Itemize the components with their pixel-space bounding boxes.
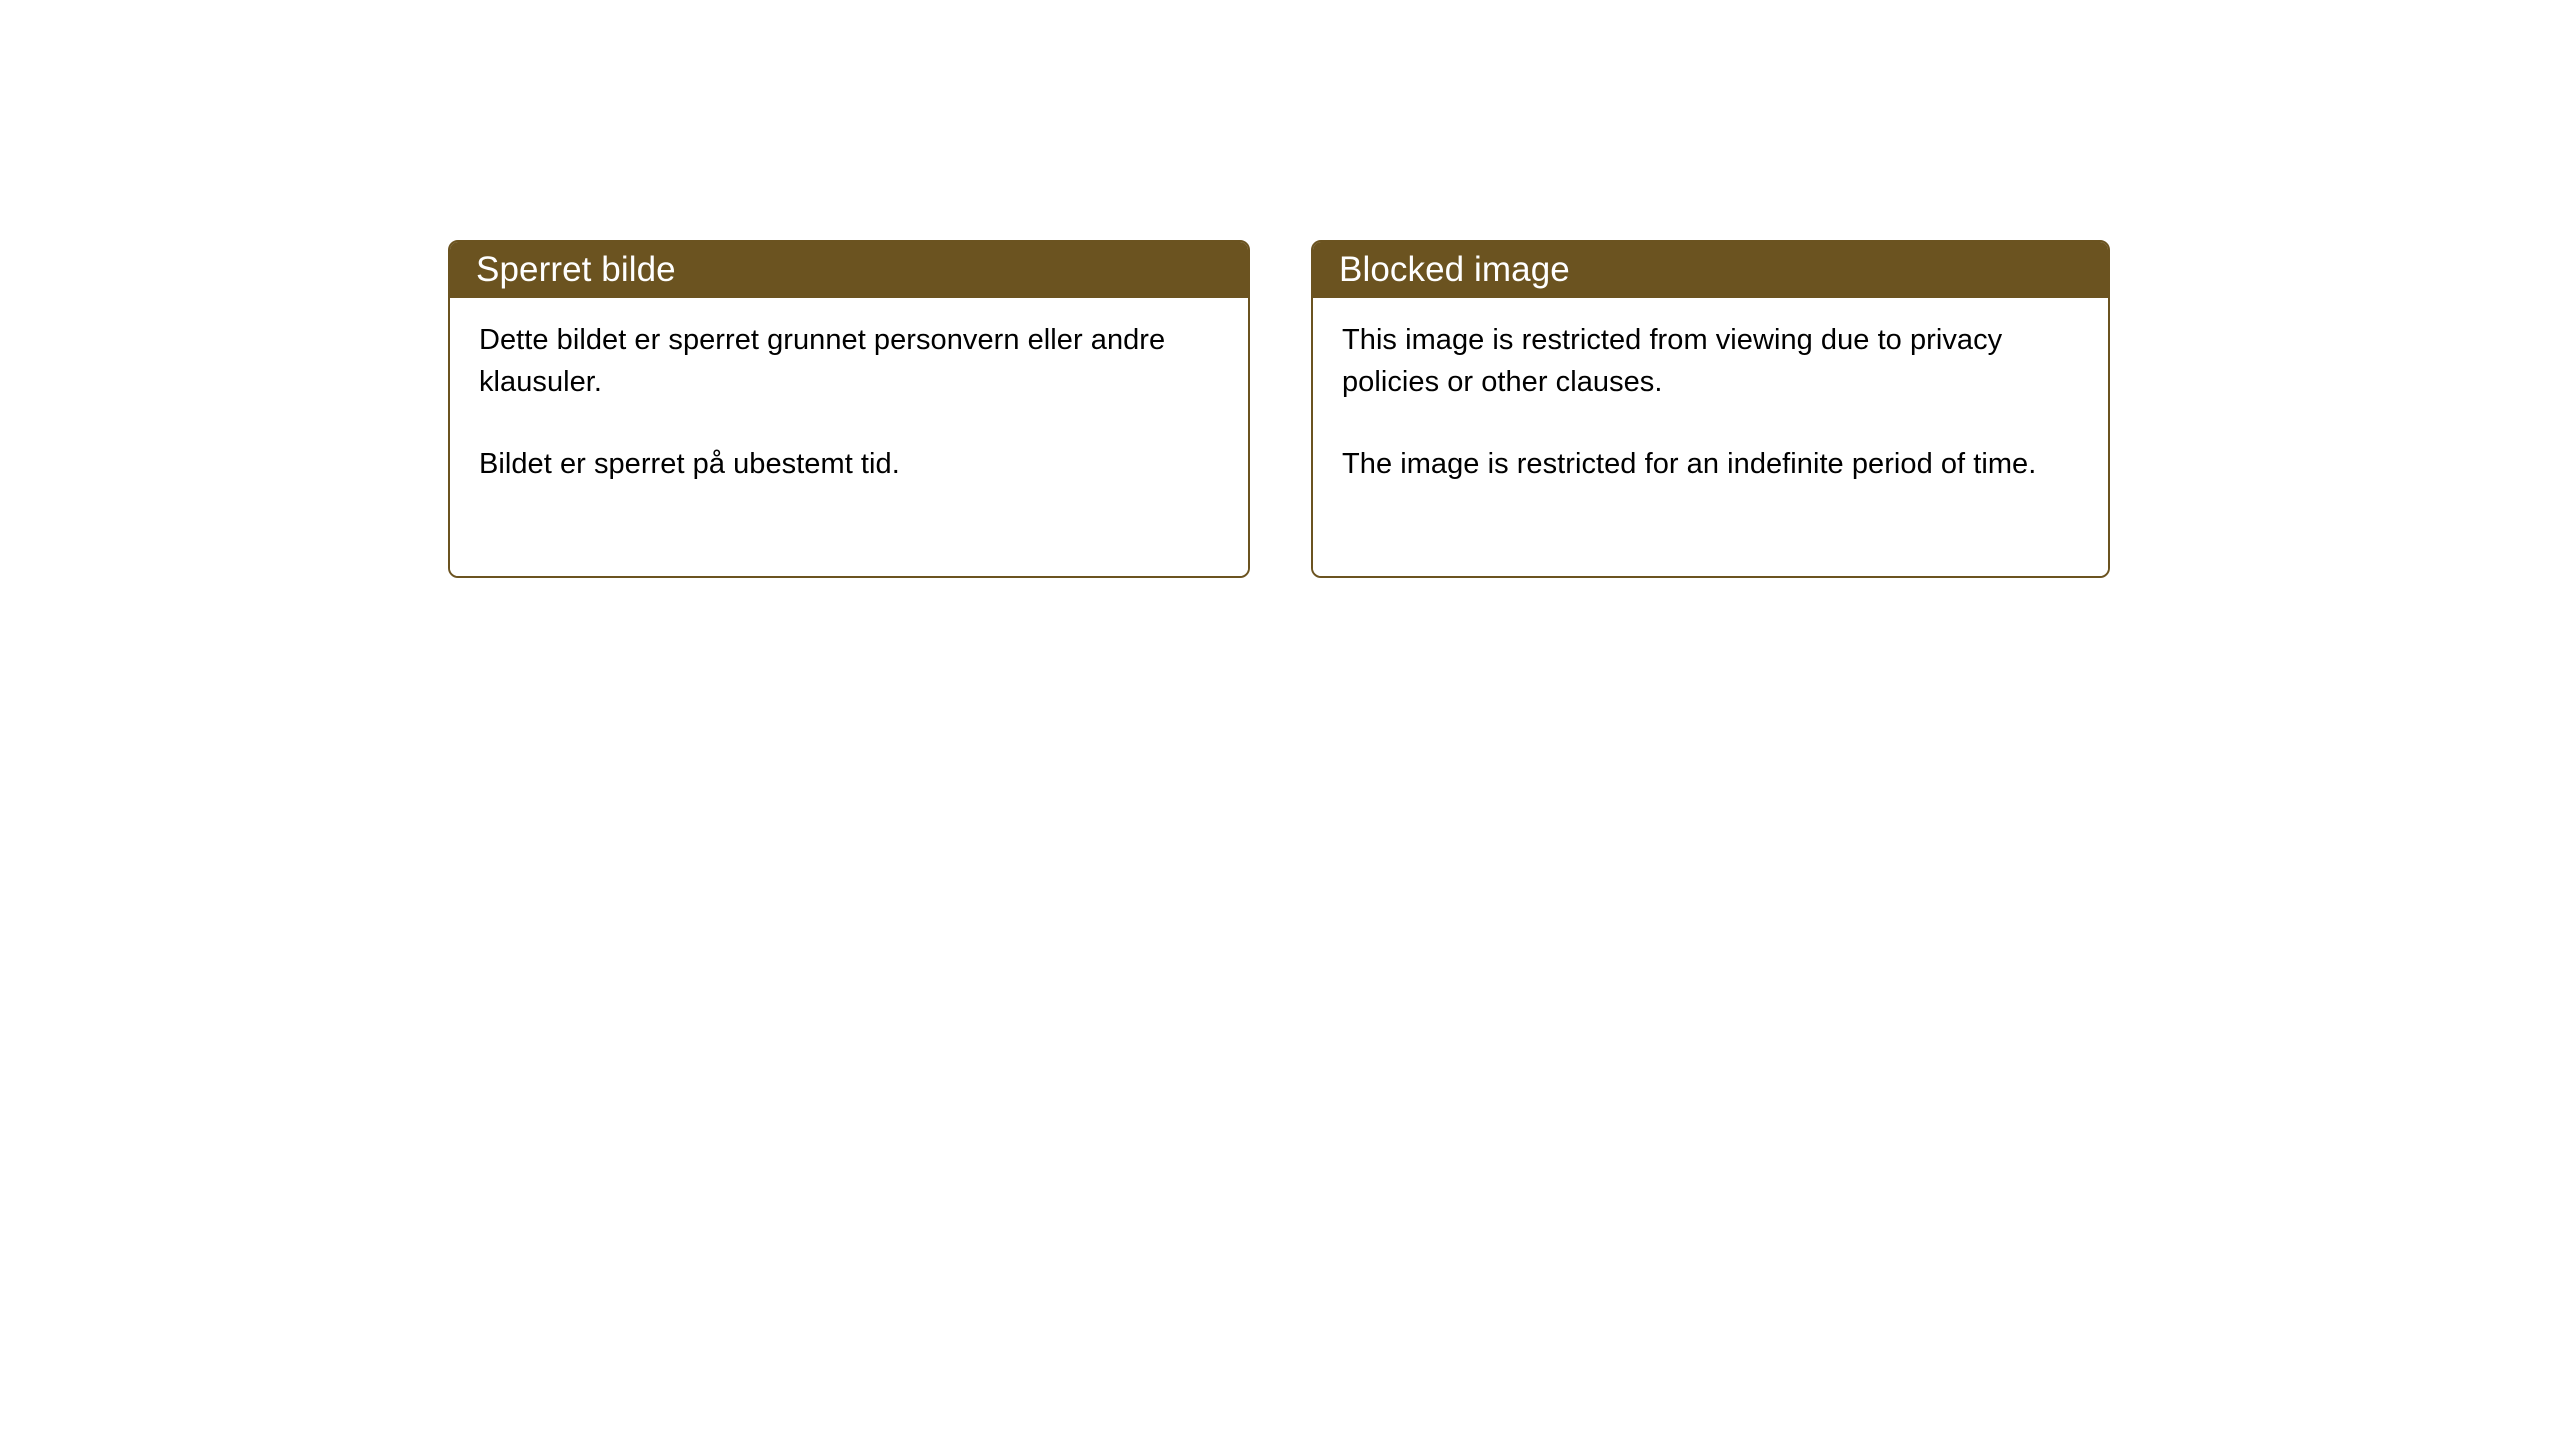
card-paragraph-english-2: The image is restricted for an indefinit… bbox=[1342, 443, 2082, 485]
card-title-english: Blocked image bbox=[1339, 250, 1570, 290]
card-paragraph-norwegian-1: Dette bildet er sperret grunnet personve… bbox=[479, 319, 1222, 403]
blocked-image-card-norwegian: Sperret bilde Dette bildet er sperret gr… bbox=[448, 240, 1250, 578]
card-title-norwegian: Sperret bilde bbox=[476, 250, 676, 290]
card-paragraph-english-1: This image is restricted from viewing du… bbox=[1342, 319, 2082, 403]
blocked-image-card-english: Blocked image This image is restricted f… bbox=[1311, 240, 2110, 578]
card-body-english: This image is restricted from viewing du… bbox=[1313, 298, 2108, 576]
card-header-english: Blocked image bbox=[1313, 242, 2108, 298]
card-body-norwegian: Dette bildet er sperret grunnet personve… bbox=[450, 298, 1248, 576]
blocked-image-notice-group: Sperret bilde Dette bildet er sperret gr… bbox=[448, 240, 2110, 578]
page-root: Sperret bilde Dette bildet er sperret gr… bbox=[0, 0, 2560, 1440]
card-header-norwegian: Sperret bilde bbox=[450, 242, 1248, 298]
card-paragraph-norwegian-2: Bildet er sperret på ubestemt tid. bbox=[479, 443, 1222, 485]
